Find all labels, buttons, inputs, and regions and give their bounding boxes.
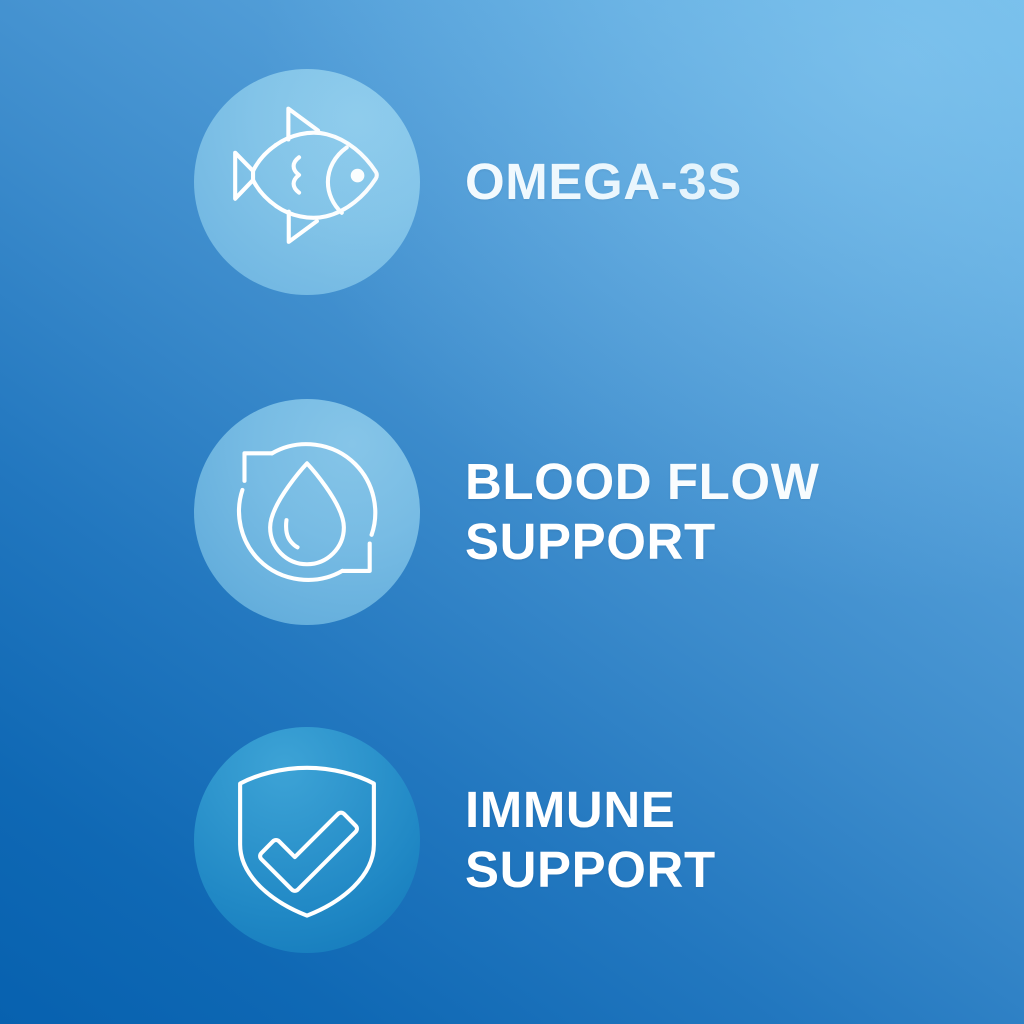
benefit-label-line-2: SUPPORT xyxy=(465,512,965,572)
benefit-label-line-2: SUPPORT xyxy=(465,840,965,900)
benefit-label-blood-flow-support: BLOOD FLOW SUPPORT xyxy=(465,452,965,572)
benefit-label-omega-3s: OMEGA-3S xyxy=(465,152,965,212)
shield-check-icon xyxy=(212,745,402,935)
icon-badge-omega-3s xyxy=(194,69,420,295)
icon-badge-immune-support xyxy=(194,727,420,953)
icon-badge-blood-flow-support xyxy=(194,399,420,625)
benefits-panel: OMEGA-3S BLOOD FLOW SUPPORT xyxy=(0,0,1024,1024)
benefit-label-line-1: IMMUNE xyxy=(465,780,965,840)
benefit-item-omega-3s: OMEGA-3S xyxy=(0,69,1024,295)
water-drop-cycle-icon xyxy=(212,417,402,607)
benefit-label-line-1: BLOOD FLOW xyxy=(465,452,965,512)
benefit-item-blood-flow-support: BLOOD FLOW SUPPORT xyxy=(0,399,1024,625)
benefit-label-line-1: OMEGA-3S xyxy=(465,152,965,212)
fish-icon xyxy=(212,87,402,277)
benefit-item-immune-support: IMMUNE SUPPORT xyxy=(0,727,1024,953)
benefit-label-immune-support: IMMUNE SUPPORT xyxy=(465,780,965,900)
